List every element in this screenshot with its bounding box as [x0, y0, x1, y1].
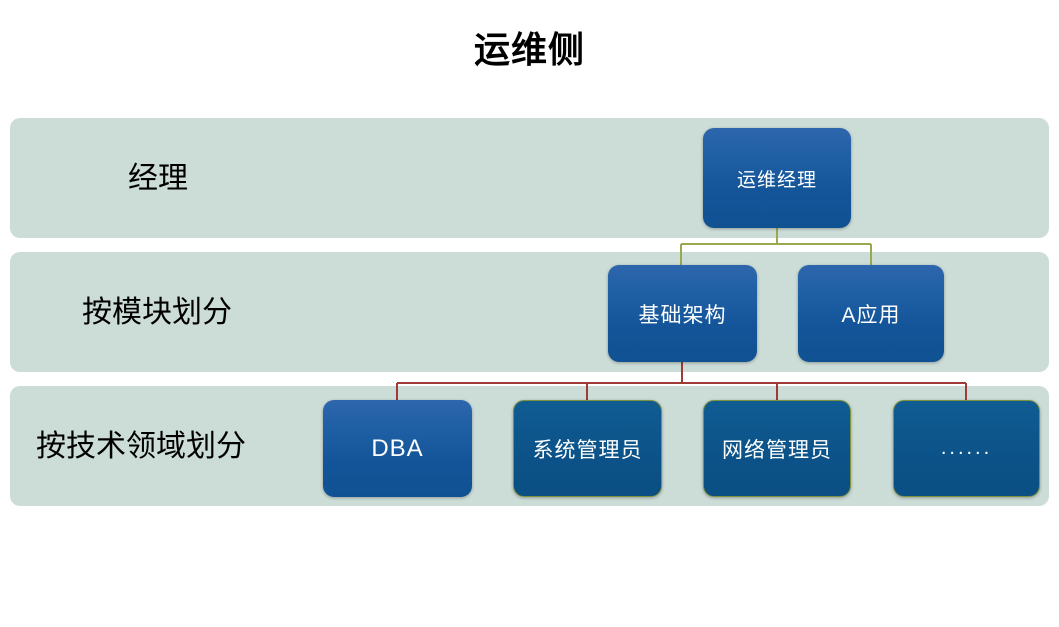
band-label-manager: 经理 — [128, 118, 188, 238]
band-manager: 经理 — [10, 118, 1049, 238]
page-title: 运维侧 — [0, 28, 1059, 72]
node-infrastructure[interactable]: 基础架构 — [608, 265, 757, 362]
node-system-administrator[interactable]: 系统管理员 — [513, 400, 662, 497]
node-more-roles[interactable]: ...... — [893, 400, 1040, 497]
band-label-by-technical-domain: 按技术领域划分 — [36, 386, 246, 506]
node-network-administrator[interactable]: 网络管理员 — [703, 400, 851, 497]
node-manager[interactable]: 运维经理 — [703, 128, 851, 228]
node-dba[interactable]: DBA — [323, 400, 472, 497]
band-label-by-module: 按模块划分 — [82, 252, 232, 372]
node-app-a[interactable]: A应用 — [798, 265, 944, 362]
